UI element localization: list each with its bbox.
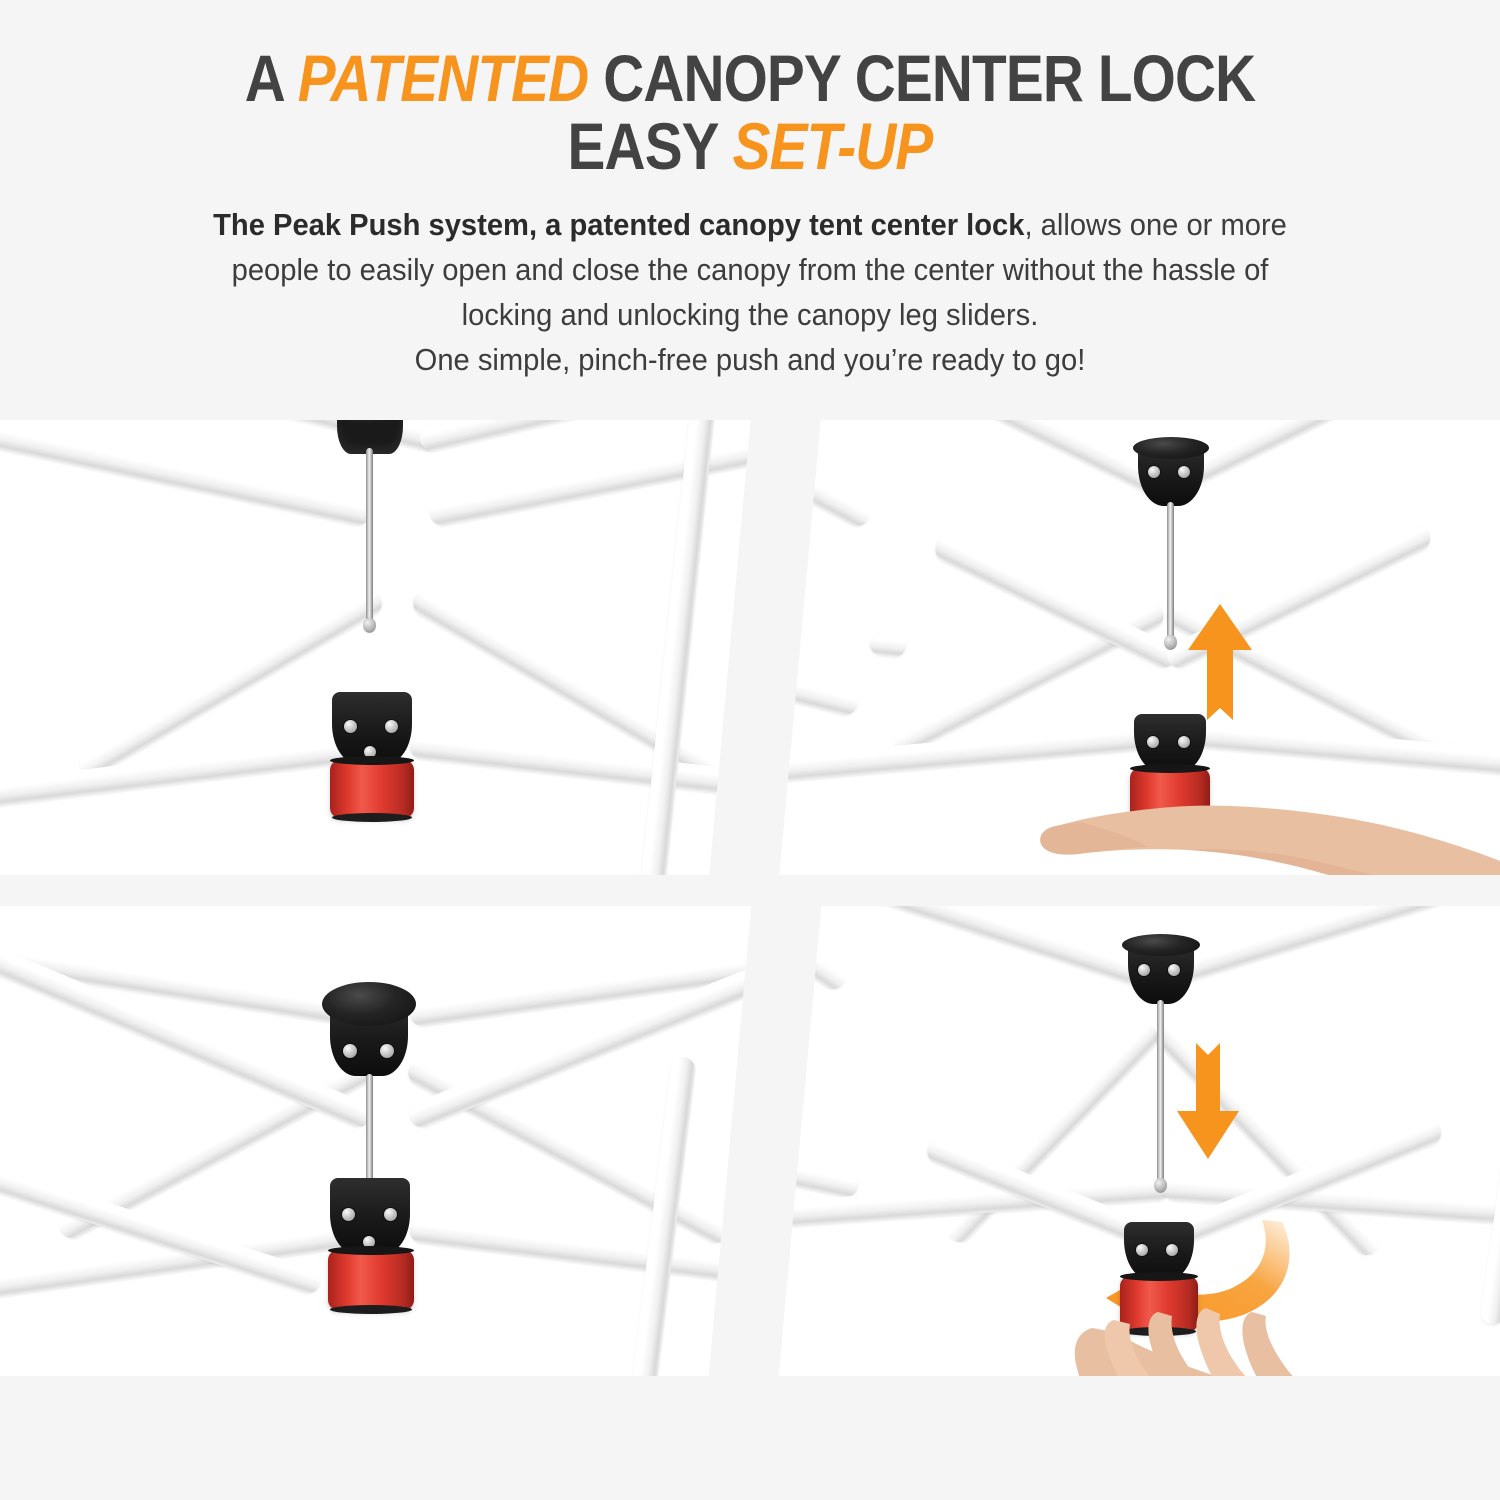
hub-rivet	[1148, 466, 1160, 478]
frame-tube	[779, 906, 851, 994]
frame-tube	[779, 1133, 861, 1199]
panel-2-push-up	[779, 420, 1500, 875]
headline-text-b: CANOPY CENTER LOCK	[588, 41, 1255, 115]
headline-text-easy: EASY	[568, 109, 733, 183]
headline-line-2: EASY SET-UP	[105, 112, 1395, 180]
arrow-up-icon	[1185, 602, 1255, 722]
headline-text-a: A	[245, 41, 298, 115]
top-hub-cap	[322, 982, 416, 1026]
headline-line-1: A PATENTED CANOPY CENTER LOCK	[105, 44, 1395, 112]
panel-1-frame-open	[0, 420, 751, 875]
hub-rivet	[1147, 736, 1159, 748]
frame-tube	[638, 420, 717, 875]
body-line-1: The Peak Push system, a patented canopy …	[134, 202, 1365, 247]
frame-tube	[861, 906, 1154, 989]
push-rod	[1157, 1000, 1164, 1182]
frame-tube	[880, 420, 1166, 497]
frame-tube	[1156, 906, 1489, 989]
body-line-3: locking and unlocking the canopy leg sli…	[134, 292, 1365, 337]
frame-tube	[779, 647, 860, 717]
hub-rivet	[1166, 1244, 1178, 1256]
panel-3-frame-collapsed	[0, 906, 751, 1376]
hub-rivet	[1136, 1244, 1148, 1256]
body-copy: The Peak Push system, a patented canopy …	[95, 202, 1405, 382]
hub-rivet	[380, 1044, 394, 1058]
push-rod-tip	[1164, 635, 1177, 650]
panel-4-twist-release	[779, 906, 1500, 1376]
push-rod-tip	[363, 618, 376, 633]
hub-rivet	[344, 720, 357, 733]
push-rod	[366, 448, 373, 623]
hub-rivet	[384, 1208, 397, 1221]
frame-joint-stub	[869, 632, 907, 658]
frame-tube	[779, 420, 874, 530]
center-lock-collar	[328, 1250, 414, 1310]
hub-rivet	[1178, 736, 1190, 748]
hub-rivet	[385, 720, 398, 733]
frame-tube	[1162, 420, 1470, 497]
hub-rivet	[342, 1208, 355, 1221]
hub-rivet	[1178, 466, 1190, 478]
gripping-hand-icon	[1062, 1298, 1362, 1376]
top-hub-cap	[1133, 437, 1209, 459]
hub-rivet	[1168, 964, 1180, 976]
hub-rivet	[1138, 964, 1150, 976]
push-rod-tip	[1154, 1178, 1167, 1193]
headline-highlight-patented: PATENTED	[298, 41, 589, 115]
body-rest-segment: , allows one or more	[1024, 207, 1286, 242]
frame-tube	[1479, 1026, 1500, 1326]
panel-grid	[0, 398, 1500, 1500]
push-rod	[366, 1074, 373, 1186]
header: A PATENTED CANOPY CENTER LOCK EASY SET-U…	[0, 0, 1500, 382]
infographic-page: A PATENTED CANOPY CENTER LOCK EASY SET-U…	[0, 0, 1500, 1500]
headline-highlight-setup: SET-UP	[733, 109, 933, 183]
center-lock-collar	[330, 760, 414, 818]
top-hub-cap	[1122, 934, 1200, 956]
open-hand-icon	[1038, 792, 1500, 875]
body-bold-segment: The Peak Push system, a patented canopy …	[213, 207, 1024, 242]
frame-tube	[0, 420, 373, 528]
body-line-2: people to easily open and close the cano…	[134, 247, 1365, 292]
frame-tube	[1177, 720, 1500, 783]
body-line-4: One simple, pinch-free push and you’re r…	[134, 337, 1365, 382]
push-rod	[1167, 502, 1174, 640]
arrow-down-icon	[1175, 1041, 1241, 1161]
hub-rivet	[343, 1044, 357, 1058]
frame-tube	[409, 732, 751, 810]
